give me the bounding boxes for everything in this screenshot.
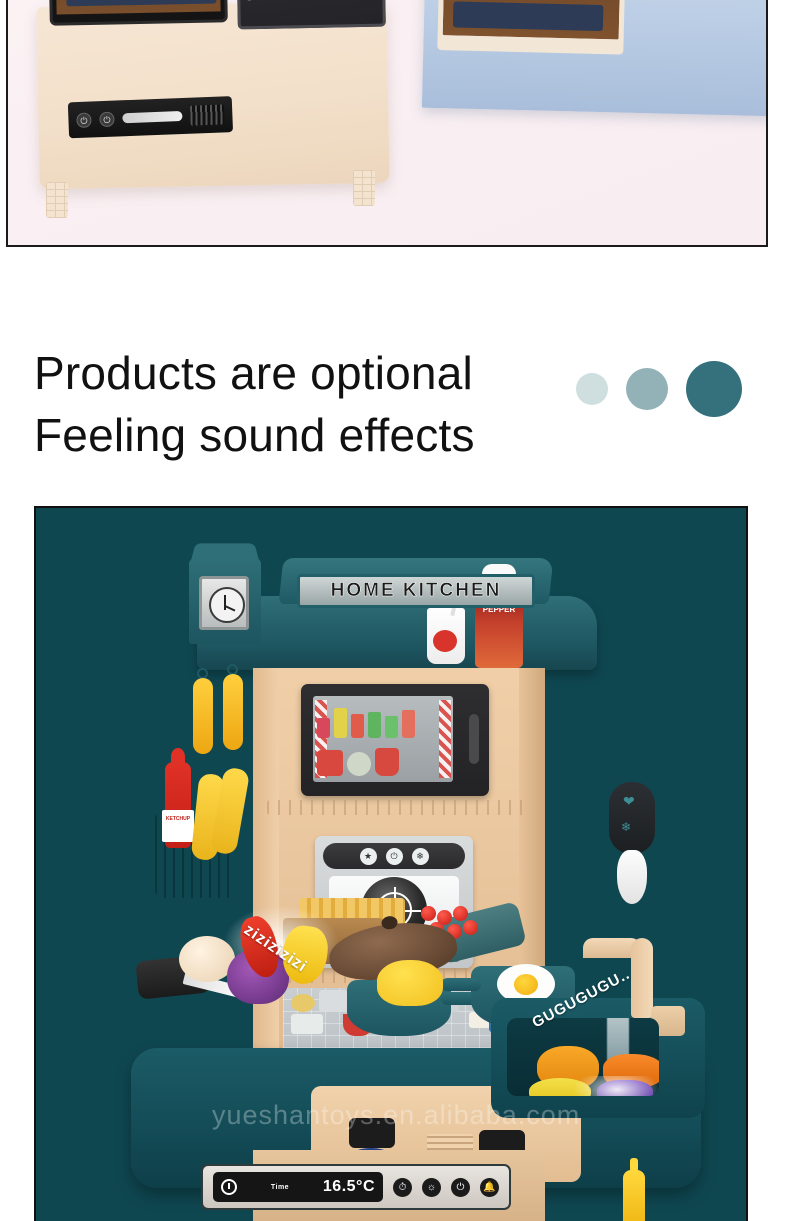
ice-cream-tub-icon (291, 1014, 323, 1034)
oven-control-panel: ⏻ ⏻ (68, 96, 233, 138)
board-left-panel (437, 0, 630, 55)
microwave-handle (469, 714, 479, 764)
home-kitchen-signage: HOME KITCHEN (297, 574, 535, 608)
oven-foot-left (46, 182, 68, 218)
clock-hand-hour (225, 605, 236, 611)
toy-kitchen-set: HOME KITCHEN (131, 528, 701, 1221)
recipe-note-icon (319, 990, 347, 1012)
board-right-panel (633, 0, 768, 82)
fan-icon[interactable]: ❄ (412, 848, 429, 865)
stove-burner-left (349, 1118, 395, 1148)
heart-icon: ❤ (623, 794, 639, 808)
soap-dispenser: ❤ ❄ (609, 782, 655, 854)
lid-knob (381, 915, 398, 930)
section-heading: Products are optional Feeling sound effe… (34, 343, 754, 466)
control-display-strip[interactable]: Time 16.5°C ⏱ ☼ ⏻ 🔔 (201, 1164, 511, 1210)
time-label: Time (271, 1184, 289, 1191)
light-icon[interactable]: ☼ (422, 1178, 441, 1197)
soda-cup (427, 608, 465, 664)
oven-foot-right (353, 170, 375, 206)
timer-icon[interactable]: ⏱ (393, 1178, 412, 1197)
main-product-photo[interactable]: HOME KITCHEN (34, 506, 748, 1221)
power-icon[interactable]: ⏻ (451, 1178, 470, 1197)
product-detail-page: ⏻ ⏻ (0, 0, 790, 1221)
power-icon[interactable]: ⏻ (386, 848, 403, 865)
pot-handle (441, 978, 481, 991)
pancake-icon (291, 994, 315, 1012)
color-swatch-group (576, 361, 742, 417)
toy-food-yellow (377, 960, 443, 1006)
toy-sink (491, 998, 705, 1118)
cabinet-shelf-edge (267, 800, 531, 815)
water-splash (573, 1076, 659, 1096)
roast-turkey-shelf (54, 0, 220, 15)
clock-icon (199, 576, 249, 630)
ketchup-label: KETCHUP (162, 810, 194, 842)
board-turkey-shelf (443, 0, 623, 39)
top-photo-scene: ⏻ ⏻ (8, 0, 766, 245)
toy-bottle-yellow (623, 1170, 645, 1221)
bell-icon[interactable]: 🔔 (480, 1178, 499, 1197)
power-icon: ⏻ (99, 111, 115, 127)
oven-door-handle (244, 0, 251, 1)
turkey-tray (66, 0, 216, 6)
color-swatch-medium[interactable] (626, 368, 668, 410)
faucet-spout (631, 938, 653, 1018)
color-swatch-light[interactable] (576, 373, 608, 405)
clock-tower (189, 558, 261, 644)
microwave-window (313, 696, 453, 782)
sink-basin (507, 1018, 659, 1096)
pantry-jar-row (317, 702, 449, 738)
bottle-cap (171, 748, 185, 766)
turkey-tray (453, 1, 604, 31)
grill-vent-icon (190, 104, 225, 125)
lcd-display: Time 16.5°C (213, 1172, 383, 1202)
ketchup-bottle: KETCHUP (165, 762, 191, 848)
oven-graphic-screen (46, 0, 228, 26)
spin-icon[interactable]: ★ (360, 848, 377, 865)
pantry-appliance-row (317, 742, 449, 776)
dispenser-drop (617, 850, 647, 904)
toy-oven-panel: ⏻ ⏻ (36, 1, 389, 190)
brand-line-2: Kitchen (305, 0, 353, 1)
washer-control-panel: ★ ⏻ ❄ (323, 843, 465, 869)
clock-icon (221, 1179, 237, 1195)
toy-spoon (193, 678, 213, 754)
temperature-readout: 16.5°C (323, 1178, 375, 1196)
color-swatch-dark[interactable] (686, 361, 742, 417)
bow-icon: ❄ (621, 822, 641, 832)
top-product-photo[interactable]: ⏻ ⏻ (6, 0, 768, 247)
toy-spatula (223, 674, 243, 750)
toy-oven-door: Playing Kitchen (234, 0, 386, 29)
oven-slider (122, 111, 182, 123)
brand-badge: Playing Kitchen (281, 0, 378, 9)
cup-logo (433, 630, 457, 652)
power-icon: ⏻ (76, 112, 92, 128)
toy-microwave (301, 684, 489, 796)
toy-food-board (422, 0, 768, 116)
